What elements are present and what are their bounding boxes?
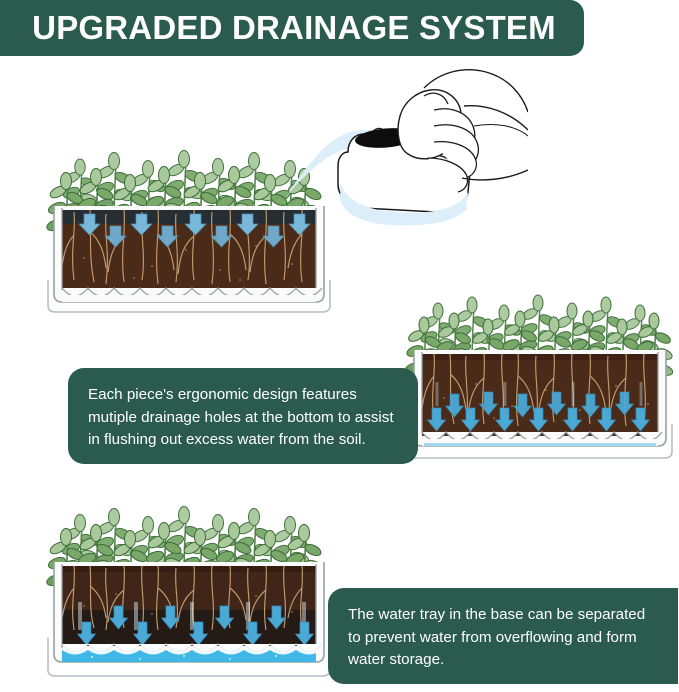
callout-drainage-holes-text: Each piece's ergonomic design features m… (88, 386, 394, 448)
poster-canvas: UPGRADED DRAINAGE SYSTEM (0, 0, 679, 692)
planter-middle-right-illustration (404, 286, 676, 474)
callout-water-tray: The water tray in the base can be separa… (328, 588, 678, 684)
callout-drainage-holes: Each piece's ergonomic design features m… (68, 368, 418, 464)
callout-water-tray-text: The water tray in the base can be separa… (348, 606, 645, 668)
planter-bottom-left-illustration (44, 498, 334, 688)
hand-with-watering-can-illustration (228, 60, 528, 245)
page-title: UPGRADED DRAINAGE SYSTEM (0, 0, 584, 56)
header-banner: UPGRADED DRAINAGE SYSTEM (0, 0, 584, 56)
